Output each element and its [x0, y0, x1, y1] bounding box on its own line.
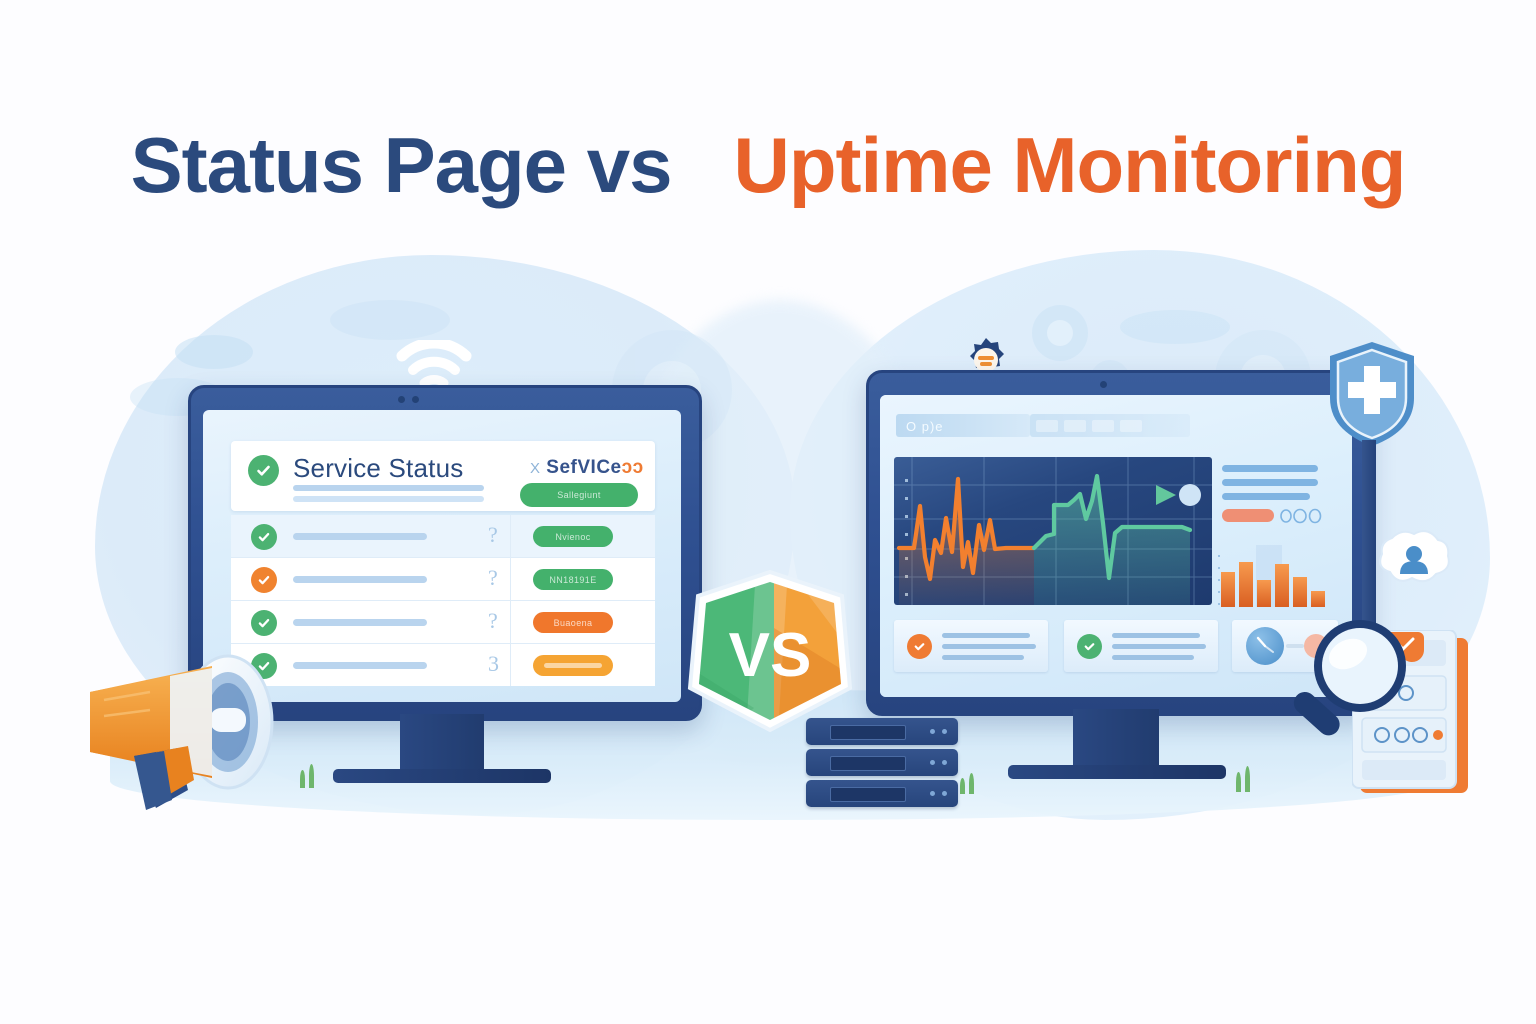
monitor-neck-left [400, 714, 484, 772]
row-status-badge-1[interactable]: Nvienoc [533, 526, 613, 547]
sidebar-text-bar-3 [1222, 493, 1310, 500]
dashboard-topbar-text: O p)e [906, 419, 944, 434]
monitor-base-right [1008, 765, 1226, 779]
vs-badge-label: VS [729, 621, 812, 690]
page-title: Status Page vs Uptime Monitoring [0, 120, 1536, 211]
magnifier-icon [1288, 614, 1418, 749]
monitor-neck-right [1073, 709, 1159, 767]
server-unit-1 [806, 718, 958, 745]
illustration-canvas: Status Page vs Uptime Monitoring [0, 0, 1536, 1024]
server-led [942, 729, 947, 734]
card-line-1 [1112, 633, 1200, 638]
cloud-decor-3 [330, 300, 450, 340]
server-led [942, 760, 947, 765]
sidebar-highlight-bar [1222, 509, 1274, 522]
server-slot [830, 725, 906, 740]
row-marker-3: ? [488, 608, 498, 634]
row-name-bar-2 [293, 576, 427, 583]
brand-dots: ɔɔ [622, 457, 644, 478]
header-text-bar-2 [293, 496, 484, 502]
server-slot [830, 756, 906, 771]
row-name-bar-3 [293, 619, 427, 626]
server-led [930, 791, 935, 796]
sidebar-toggle-icons[interactable] [1278, 508, 1324, 524]
page-title-part1: Status Page vs [131, 121, 672, 209]
shield-cross-icon [1326, 340, 1418, 448]
row-marker-2: ? [488, 565, 498, 591]
monitor-camera-left-2 [412, 396, 419, 403]
header-status-badge[interactable]: Sallegiunt [520, 483, 638, 507]
row-name-bar-4 [293, 662, 427, 669]
row-col-divider-1 [510, 515, 511, 557]
header-text-bar-1 [293, 485, 484, 491]
page-title-part2: Uptime Monitoring [734, 121, 1406, 209]
check-circle-green-card [1077, 634, 1102, 659]
dashboard-topbar-extension [1030, 414, 1190, 437]
grass-decor-6 [1245, 766, 1250, 792]
server-unit-2 [806, 749, 958, 776]
chart-svg [894, 457, 1212, 605]
server-led [942, 791, 947, 796]
monitor-camera-right [1100, 381, 1107, 388]
uptime-dashboard-screen: O p)e [880, 395, 1352, 697]
server-unit-3 [806, 780, 958, 807]
topbar-chip-2 [1064, 420, 1086, 432]
response-time-chart [894, 457, 1212, 605]
dashboard-topbar: O p)e [896, 414, 1030, 437]
megaphone-icon [60, 630, 310, 815]
service-brand-label: X SefVICeɔɔ [530, 457, 644, 479]
row-status-badge-3[interactable]: Buaoena [533, 612, 613, 633]
brand-name: SefVICe [546, 457, 621, 478]
grass-decor-5 [1236, 772, 1241, 792]
check-circle-orange-card [907, 634, 932, 659]
vs-badge: VS [684, 568, 856, 734]
dashboard-card-1[interactable] [894, 620, 1048, 672]
row-marker-4: 3 [488, 651, 499, 677]
row-status-badge-4[interactable] [533, 655, 613, 676]
play-triangle-icon [1156, 485, 1176, 505]
chart-status-dot [1179, 484, 1201, 506]
cloud-decor-1 [175, 335, 253, 369]
card-line-2 [942, 644, 1036, 649]
grass-decor-1 [300, 770, 305, 788]
brand-x-mark: X [530, 460, 541, 477]
row-col-divider-3 [510, 601, 511, 643]
cloud-decor-4 [1120, 310, 1230, 344]
server-led [930, 760, 935, 765]
cloud-user-badge [1374, 528, 1454, 594]
monitor-camera-left [398, 396, 405, 403]
server-led [930, 729, 935, 734]
dashboard-card-2[interactable] [1064, 620, 1218, 672]
check-circle-orange-row2 [251, 567, 277, 593]
topbar-chip-1 [1036, 420, 1058, 432]
grass-decor-2 [309, 764, 314, 788]
row-marker-1: ? [488, 522, 498, 548]
sidebar-bar-chart [1218, 543, 1336, 607]
card-line-3 [1112, 655, 1194, 660]
sidebar-text-bar-2 [1222, 479, 1318, 486]
card-line-2 [1112, 644, 1206, 649]
service-status-header-card: Service Status X SefVICeɔɔ Sallegiunt [231, 441, 655, 511]
monitor-base-left [333, 769, 551, 783]
card-line-1 [942, 633, 1030, 638]
server-slot [830, 787, 906, 802]
topbar-chip-3 [1092, 420, 1114, 432]
row-col-divider-4 [510, 644, 511, 686]
gauge-icon [1246, 627, 1284, 665]
card-line-3 [942, 655, 1024, 660]
row-status-badge-2[interactable]: NN18191E [533, 569, 613, 590]
server-stack-icon [806, 718, 966, 813]
grass-decor-3 [960, 778, 965, 794]
service-status-title: Service Status [293, 453, 463, 484]
check-circle-green-row1 [251, 524, 277, 550]
row-badge-inner-bar [544, 663, 602, 668]
row-name-bar-1 [293, 533, 427, 540]
row-col-divider-2 [510, 558, 511, 600]
gear-decor-1 [1032, 305, 1088, 361]
check-circle-green-header [248, 455, 279, 486]
sidebar-text-bar-1 [1222, 465, 1318, 472]
grass-decor-4 [969, 773, 974, 794]
topbar-chip-4 [1120, 420, 1142, 432]
